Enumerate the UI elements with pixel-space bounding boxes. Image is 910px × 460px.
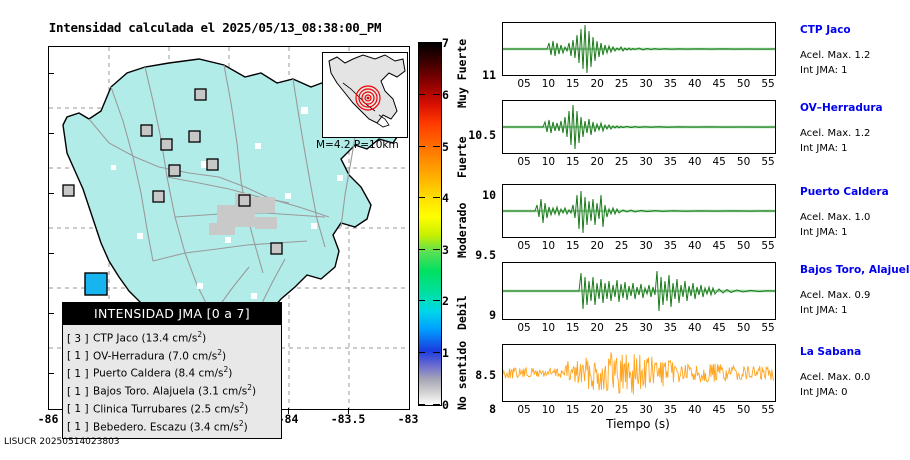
colorbar-tick-label: 7 bbox=[442, 36, 456, 50]
waveform-xtick-label: 25 bbox=[610, 78, 634, 90]
map-xtick-label: -83.5 bbox=[318, 412, 378, 426]
map-ytick-label: 10 bbox=[456, 188, 496, 202]
waveform-xtick-label: 05 bbox=[512, 240, 536, 252]
legend-unit-exponent: 2 bbox=[239, 401, 244, 410]
waveform-xtick-label: 25 bbox=[610, 240, 634, 252]
legend-unit-exponent: 2 bbox=[217, 348, 222, 357]
waveform-xtick-label: 45 bbox=[707, 156, 731, 168]
waveform-xtick-label: 55 bbox=[756, 156, 780, 168]
waveform-panel-la-sabana[interactable] bbox=[502, 344, 776, 402]
waveform-xtick-label: 55 bbox=[756, 78, 780, 90]
legend-entry: [ 1 ]Bebedero. Escazu (3.4 cm/s2) bbox=[67, 417, 277, 435]
waveform-xtick-label: 35 bbox=[658, 156, 682, 168]
legend-entry: [ 3 ]CTP Jaco (13.4 cm/s2) bbox=[67, 328, 277, 346]
waveform-jma-value: Int JMA: 1 bbox=[800, 65, 848, 76]
legend-station: CTP Jaco bbox=[93, 333, 138, 345]
legend-entry: [ 1 ]Puerto Caldera (8.4 cm/s2) bbox=[67, 363, 277, 381]
waveform-xtick-label: 20 bbox=[585, 78, 609, 90]
waveform-xtick-label: 10 bbox=[536, 404, 560, 416]
waveform-xtick-label: 05 bbox=[512, 322, 536, 334]
waveform-station-name: CTP Jaco bbox=[800, 24, 851, 36]
waveform-panel-bajos-toro[interactable] bbox=[502, 262, 776, 320]
waveform-xtick-label: 10 bbox=[536, 240, 560, 252]
waveform-xtick-label: 50 bbox=[732, 240, 756, 252]
waveform-xtick-label: 35 bbox=[658, 404, 682, 416]
colorbar-category-label: Fuerte bbox=[455, 136, 469, 178]
waveform-xtick-label: 10 bbox=[536, 78, 560, 90]
colorbar-tick-label: 5 bbox=[442, 140, 456, 154]
waveform-xtick-label: 40 bbox=[683, 404, 707, 416]
legend-value: 3.4 cm/s bbox=[194, 421, 239, 433]
colorbar-tick-label: 3 bbox=[442, 243, 456, 257]
waveform-xtick-label: 15 bbox=[561, 240, 585, 252]
waveform-xtick-label: 40 bbox=[683, 240, 707, 252]
footer-text: LISUCR 20250514023803 bbox=[4, 437, 120, 447]
waveform-xtick-label: 25 bbox=[610, 404, 634, 416]
legend-value: 7.0 cm/s bbox=[172, 350, 217, 362]
waveform-trace bbox=[503, 101, 775, 153]
waveform-trace bbox=[503, 23, 775, 75]
waveform-xtick-label: 45 bbox=[707, 78, 731, 90]
waveform-xtick-label: 35 bbox=[658, 78, 682, 90]
waveform-xtick-label: 20 bbox=[585, 404, 609, 416]
waveform-xtick-label: 15 bbox=[561, 404, 585, 416]
legend-count: [ 1 ] bbox=[67, 403, 93, 416]
waveform-xtick-label: 05 bbox=[512, 156, 536, 168]
waveform-xtick-label: 45 bbox=[707, 404, 731, 416]
map-xtick-label: -83 bbox=[378, 412, 438, 426]
waveform-xtick-label: 30 bbox=[634, 322, 658, 334]
colorbar-tick-label: 1 bbox=[442, 346, 456, 360]
waveform-jma-value: Int JMA: 1 bbox=[800, 143, 848, 154]
waveform-station-name: OV–Herradura bbox=[800, 102, 883, 114]
waveform-xtick-label: 55 bbox=[756, 322, 780, 334]
waveform-xtick-label: 40 bbox=[683, 78, 707, 90]
waveform-xtick-label: 10 bbox=[536, 322, 560, 334]
legend-count: [ 3 ] bbox=[67, 333, 93, 346]
legend-station: Clinica Turrubares bbox=[93, 403, 187, 415]
intensity-legend: INTENSIDAD JMA [0 a 7] [ 3 ]CTP Jaco (13… bbox=[62, 302, 282, 439]
waveform-xtick-label: 20 bbox=[585, 240, 609, 252]
waveform-xtick-label: 25 bbox=[610, 156, 634, 168]
waveform-xtick-label: 20 bbox=[585, 322, 609, 334]
waveform-panel-ov-herradura[interactable] bbox=[502, 100, 776, 154]
waveform-trace bbox=[503, 345, 775, 401]
legend-count: [ 1 ] bbox=[67, 421, 93, 434]
epicenter-inset-map[interactable] bbox=[322, 52, 408, 138]
waveform-jma-value: Int JMA: 0 bbox=[800, 387, 848, 398]
waveform-xtick-label: 30 bbox=[634, 240, 658, 252]
waveform-xtick-label: 55 bbox=[756, 404, 780, 416]
waveform-accel-value: Acel. Max. 1.2 bbox=[800, 50, 870, 61]
waveform-xtick-label: 45 bbox=[707, 240, 731, 252]
legend-title: INTENSIDAD JMA [0 a 7] bbox=[63, 303, 281, 325]
colorbar-category-label: Debil bbox=[455, 295, 469, 330]
waveform-accel-value: Acel. Max. 0.9 bbox=[800, 290, 870, 301]
waveform-xtick-label: 15 bbox=[561, 78, 585, 90]
legend-value: 2.5 cm/s bbox=[194, 403, 239, 415]
legend-value: 8.4 cm/s bbox=[178, 368, 223, 380]
colorbar-category-label: Moderado bbox=[455, 203, 469, 258]
colorbar-category-label: No sentido bbox=[455, 341, 469, 410]
waveform-xtick-label: 40 bbox=[683, 156, 707, 168]
legend-value: 3.1 cm/s bbox=[202, 386, 247, 398]
legend-unit-exponent: 2 bbox=[247, 383, 252, 392]
waveform-xtick-label: 35 bbox=[658, 322, 682, 334]
waveform-trace bbox=[503, 185, 775, 237]
waveform-xtick-label: 25 bbox=[610, 322, 634, 334]
legend-value: 13.4 cm/s bbox=[146, 333, 198, 345]
waveform-jma-value: Int JMA: 1 bbox=[800, 227, 848, 238]
waveform-station-name: Puerto Caldera bbox=[800, 186, 889, 198]
waveform-jma-value: Int JMA: 1 bbox=[800, 305, 848, 316]
station-marker-ctp-jaco bbox=[85, 273, 107, 295]
waveform-xtick-label: 30 bbox=[634, 404, 658, 416]
magnitude-depth-caption: M=4.2 P=10km bbox=[316, 139, 426, 151]
colorbar-tick-label: 6 bbox=[442, 88, 456, 102]
legend-station: Bajos Toro. Alajuela bbox=[93, 386, 195, 398]
inset-geometry bbox=[323, 53, 407, 137]
waveform-xtick-label: 45 bbox=[707, 322, 731, 334]
waveform-axis-title: Tiempo (s) bbox=[502, 417, 774, 431]
legend-entry-list: [ 3 ]CTP Jaco (13.4 cm/s2) [ 1 ]OV-Herra… bbox=[63, 325, 281, 438]
legend-count: [ 1 ] bbox=[67, 350, 93, 363]
waveform-accel-value: Acel. Max. 1.0 bbox=[800, 212, 870, 223]
waveform-xtick-label: 05 bbox=[512, 404, 536, 416]
waveform-accel-value: Acel. Max. 0.0 bbox=[800, 372, 870, 383]
page-title: Intensidad calculada el 2025/05/13_08:38… bbox=[0, 20, 430, 35]
legend-count: [ 1 ] bbox=[67, 368, 93, 381]
legend-entry: [ 1 ]OV-Herradura (7.0 cm/s2) bbox=[67, 346, 277, 364]
waveform-station-name: Bajos Toro, Alajuela bbox=[800, 264, 910, 276]
waveform-panel-puerto-caldera[interactable] bbox=[502, 184, 776, 238]
legend-count: [ 1 ] bbox=[67, 386, 93, 399]
legend-entry: [ 1 ]Clinica Turrubares (2.5 cm/s2) bbox=[67, 399, 277, 417]
waveform-xtick-label: 50 bbox=[732, 322, 756, 334]
waveform-xtick-label: 55 bbox=[756, 240, 780, 252]
waveform-xtick-label: 20 bbox=[585, 156, 609, 168]
legend-unit-exponent: 2 bbox=[197, 330, 202, 339]
waveform-xtick-label: 05 bbox=[512, 78, 536, 90]
waveform-xtick-label: 30 bbox=[634, 78, 658, 90]
colorbar-tick-label: 0 bbox=[442, 398, 456, 412]
waveform-xtick-label: 35 bbox=[658, 240, 682, 252]
colorbar-tick-label: 4 bbox=[442, 191, 456, 205]
waveform-trace bbox=[503, 263, 775, 319]
waveform-xtick-label: 15 bbox=[561, 322, 585, 334]
waveform-xtick-label: 50 bbox=[732, 78, 756, 90]
waveform-xtick-label: 50 bbox=[732, 404, 756, 416]
legend-unit-exponent: 2 bbox=[239, 419, 244, 428]
waveform-xtick-label: 50 bbox=[732, 156, 756, 168]
waveform-panel-ctp-jaco[interactable] bbox=[502, 22, 776, 76]
legend-station: OV-Herradura bbox=[93, 350, 165, 362]
waveform-accel-value: Acel. Max. 1.2 bbox=[800, 128, 870, 139]
colorbar-tick-label: 2 bbox=[442, 294, 456, 308]
waveform-station-name: La Sabana bbox=[800, 346, 861, 358]
colorbar-category-label: Muy Fuerte bbox=[455, 39, 469, 108]
legend-entry: [ 1 ]Bajos Toro. Alajuela (3.1 cm/s2) bbox=[67, 381, 277, 399]
waveform-xtick-label: 15 bbox=[561, 156, 585, 168]
legend-station: Bebedero. Escazu bbox=[93, 421, 186, 433]
legend-station: Puerto Caldera bbox=[93, 368, 171, 380]
legend-unit-exponent: 2 bbox=[224, 365, 229, 374]
waveform-xtick-label: 40 bbox=[683, 322, 707, 334]
waveform-xtick-label: 30 bbox=[634, 156, 658, 168]
waveform-xtick-label: 10 bbox=[536, 156, 560, 168]
